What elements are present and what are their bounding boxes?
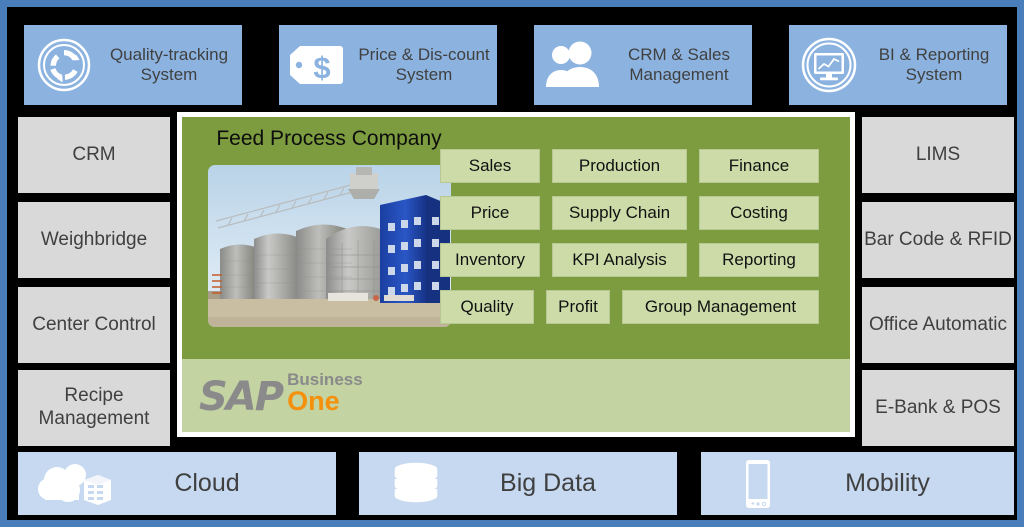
sidebar-item-label: Recipe Management <box>18 385 170 431</box>
sidebar-item-label: Center Control <box>32 314 156 337</box>
cloud-datacenter-icon <box>32 458 118 510</box>
module-button-costing[interactable]: Costing <box>699 196 819 230</box>
svg-text:$: $ <box>313 50 330 85</box>
sidebar-item-label: E-Bank & POS <box>875 397 1001 420</box>
top-card-quality-tracking[interactable]: Quality-tracking System <box>24 25 242 105</box>
module-button-label: Sales <box>469 156 512 176</box>
sidebar-item-label: Weighbridge <box>41 229 147 252</box>
module-button-label: Reporting <box>722 250 796 270</box>
module-button-group-management[interactable]: Group Management <box>622 290 819 324</box>
module-row: Price Supply Chain Costing <box>440 196 840 230</box>
module-button-label: Profit <box>558 297 598 317</box>
sidebar-item-label: CRM <box>72 144 115 167</box>
top-card-crm-sales[interactable]: CRM & Sales Management <box>534 25 752 105</box>
top-card-bi-reporting[interactable]: BI & Reporting System <box>789 25 1007 105</box>
center-panel: Feed Process Company <box>177 112 855 437</box>
module-button-finance[interactable]: Finance <box>699 149 819 183</box>
module-button-price[interactable]: Price <box>440 196 540 230</box>
bottom-card-label: Big Data <box>459 469 677 498</box>
module-button-label: Finance <box>729 156 789 176</box>
center-panel-main: Feed Process Company <box>182 117 850 359</box>
sidebar-item-recipe-management[interactable]: Recipe Management <box>18 370 170 446</box>
module-button-label: KPI Analysis <box>572 250 667 270</box>
sidebar-item-label: Office Automatic <box>869 314 1007 337</box>
recycle-circle-icon <box>32 36 96 94</box>
sidebar-item-bar-code-rfid[interactable]: Bar Code & RFID <box>862 202 1014 278</box>
sap-wordmark: SAP <box>199 378 282 416</box>
module-button-production[interactable]: Production <box>552 149 687 183</box>
top-card-price-discount[interactable]: $ Price & Dis-count System <box>279 25 497 105</box>
sap-one-text: One <box>287 389 363 415</box>
module-button-kpi-analysis[interactable]: KPI Analysis <box>552 243 687 277</box>
users-group-icon <box>542 36 606 94</box>
smartphone-icon <box>715 458 801 510</box>
bottom-card-label: Mobility <box>801 469 1014 498</box>
module-row: Sales Production Finance <box>440 149 840 183</box>
module-button-reporting[interactable]: Reporting <box>699 243 819 277</box>
top-card-label: CRM & Sales Management <box>606 45 752 85</box>
bottom-card-mobility[interactable]: Mobility <box>701 452 1014 515</box>
top-card-label: Price & Dis-count System <box>351 45 497 85</box>
module-grid: Sales Production Finance Price Supply Ch… <box>440 149 840 337</box>
module-button-label: Supply Chain <box>569 203 670 223</box>
module-button-quality[interactable]: Quality <box>440 290 534 324</box>
module-button-label: Group Management <box>645 297 796 317</box>
plant-photo <box>208 165 451 327</box>
center-panel-footer: SAP Business One <box>182 359 850 432</box>
module-button-label: Quality <box>461 297 514 317</box>
company-title: Feed Process Company <box>204 127 454 151</box>
sap-business-one-logo: SAP Business One <box>199 371 363 416</box>
top-card-label: Quality-tracking System <box>96 45 242 85</box>
module-button-sales[interactable]: Sales <box>440 149 540 183</box>
sidebar-item-lims[interactable]: LIMS <box>862 117 1014 193</box>
sidebar-item-center-control[interactable]: Center Control <box>18 287 170 363</box>
sap-product-name: Business One <box>287 371 363 416</box>
bottom-card-big-data[interactable]: Big Data <box>359 452 677 515</box>
module-button-label: Costing <box>730 203 788 223</box>
price-tag-dollar-icon: $ <box>287 36 351 94</box>
bottom-card-cloud[interactable]: Cloud <box>18 452 336 515</box>
sidebar-item-crm[interactable]: CRM <box>18 117 170 193</box>
monitor-chart-circle-icon <box>797 36 861 94</box>
module-row: Quality Profit Group Management <box>440 290 840 324</box>
module-button-inventory[interactable]: Inventory <box>440 243 540 277</box>
database-stack-icon <box>373 458 459 510</box>
module-row: Inventory KPI Analysis Reporting <box>440 243 840 277</box>
module-button-label: Inventory <box>455 250 525 270</box>
module-button-profit[interactable]: Profit <box>546 290 610 324</box>
sidebar-item-weighbridge[interactable]: Weighbridge <box>18 202 170 278</box>
top-card-label: BI & Reporting System <box>861 45 1007 85</box>
diagram-canvas: Quality-tracking System $ Price & Dis-co… <box>0 0 1024 527</box>
sidebar-item-office-automatic[interactable]: Office Automatic <box>862 287 1014 363</box>
module-button-label: Price <box>471 203 510 223</box>
sidebar-item-label: Bar Code & RFID <box>864 229 1012 252</box>
module-button-supply-chain[interactable]: Supply Chain <box>552 196 687 230</box>
sidebar-item-label: LIMS <box>916 144 960 167</box>
module-button-label: Production <box>579 156 660 176</box>
bottom-card-label: Cloud <box>118 469 336 498</box>
sidebar-item-e-bank-pos[interactable]: E-Bank & POS <box>862 370 1014 446</box>
